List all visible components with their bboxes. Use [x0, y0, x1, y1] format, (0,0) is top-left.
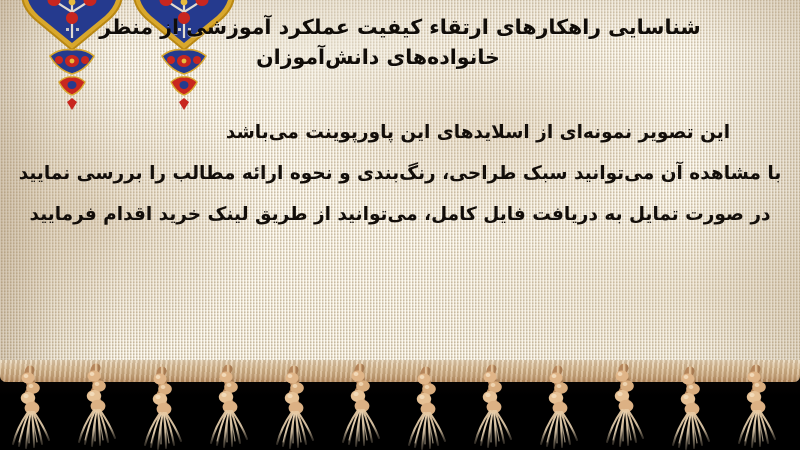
slide-title-line-2: خانواده‌های دانش‌آموزان: [22, 42, 778, 72]
vignette-bottom: [0, 380, 800, 450]
slide-body-line-3: در صورت تمایل به دریافت فایل کامل، می‌تو…: [18, 194, 800, 235]
slide-body-line-1: این تصویر نمونه‌ای از اسلایدهای این پاور…: [18, 112, 800, 153]
slide-title-line-1: شناسایی راهکارهای ارتقاء کیفیت عملکرد آم…: [22, 12, 778, 42]
slide-title: شناسایی راهکارهای ارتقاء کیفیت عملکرد آم…: [22, 12, 778, 72]
slide-body: این تصویر نمونه‌ای از اسلایدهای این پاور…: [18, 112, 800, 235]
slide-canvas: شناسایی راهکارهای ارتقاء کیفیت عملکرد آم…: [0, 0, 800, 450]
slide-text-layer: شناسایی راهکارهای ارتقاء کیفیت عملکرد آم…: [0, 0, 800, 374]
slide-body-line-2: با مشاهده آن می‌توانید سبک طراحی، رنگ‌بن…: [18, 153, 800, 194]
carpet-black-border: [0, 374, 800, 450]
